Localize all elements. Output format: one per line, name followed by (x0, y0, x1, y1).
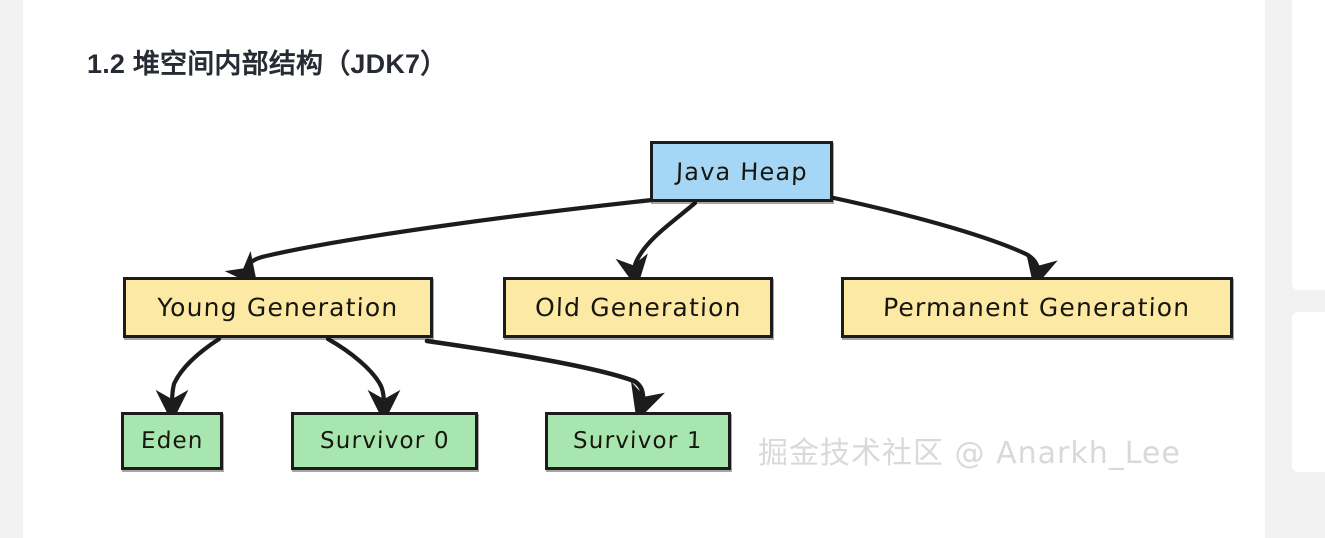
watermark-text: 掘金技术社区 @ Anarkh_Lee (758, 428, 1181, 472)
node-survivor-0[interactable]: Survivor 0 (291, 412, 478, 470)
edge-java-heap-to-permanent-generation (834, 198, 1038, 276)
node-young-generation[interactable]: Young Generation (123, 277, 433, 338)
edge-young-generation-to-survivor-1 (427, 341, 643, 408)
node-permanent-generation-label: Permanent Generation (883, 293, 1191, 322)
node-java-heap[interactable]: Java Heap (650, 141, 833, 202)
screenshot-root: 1.2 堆空间内部结构（JDK7） (0, 0, 1325, 538)
heap-structure-diagram: Java Heap Young Generation Old Generatio… (23, 0, 1265, 538)
node-eden[interactable]: Eden (121, 412, 223, 470)
edge-young-generation-to-survivor-0 (328, 339, 384, 410)
document-page: 1.2 堆空间内部结构（JDK7） (23, 0, 1265, 538)
right-rail-panel-top (1292, 0, 1325, 290)
node-survivor-0-label: Survivor 0 (319, 428, 450, 454)
node-java-heap-label: Java Heap (675, 158, 808, 186)
node-survivor-1-label: Survivor 1 (573, 428, 704, 454)
node-old-generation[interactable]: Old Generation (503, 277, 773, 338)
edge-java-heap-to-young-generation (247, 200, 652, 277)
node-permanent-generation[interactable]: Permanent Generation (841, 277, 1233, 338)
node-eden-label: Eden (140, 428, 204, 454)
edge-young-generation-to-eden (172, 339, 219, 410)
node-young-generation-label: Young Generation (157, 293, 399, 322)
edge-java-heap-to-old-generation (634, 203, 695, 276)
right-rail-panel-bottom (1292, 312, 1325, 472)
node-old-generation-label: Old Generation (534, 293, 742, 322)
node-survivor-1[interactable]: Survivor 1 (545, 412, 731, 470)
